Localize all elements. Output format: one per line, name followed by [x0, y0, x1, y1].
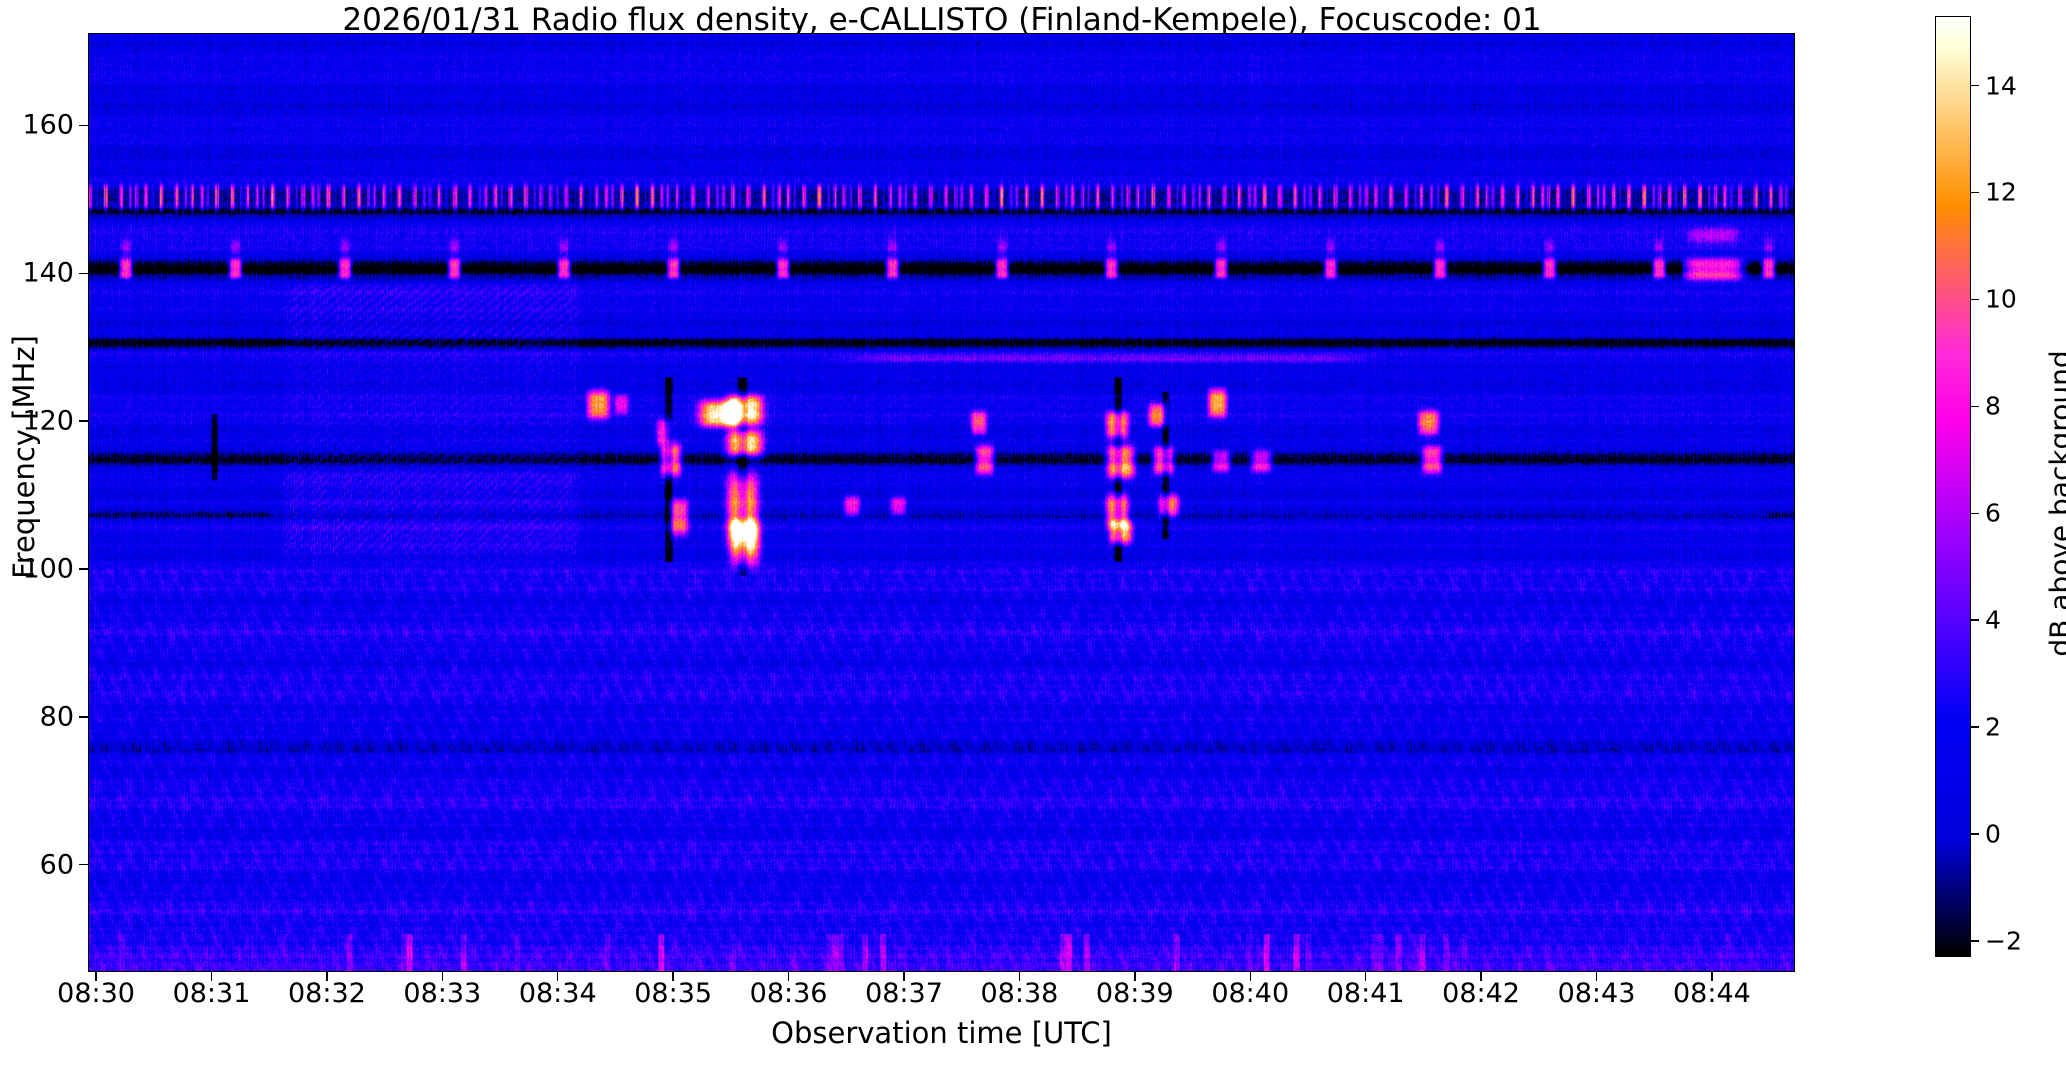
- y-axis-label: Frequency [MHz]: [7, 157, 41, 757]
- y-axis-tick-label: 60: [0, 849, 74, 880]
- y-axis-tick-mark: [79, 864, 88, 865]
- colorbar-tick-mark: [1971, 85, 1979, 86]
- y-axis-tick-mark: [79, 420, 88, 421]
- x-axis-tick-mark: [1596, 972, 1597, 981]
- y-axis-tick-label: 160: [0, 110, 74, 141]
- y-axis-tick-label: 100: [0, 554, 74, 585]
- y-axis-tick-mark: [79, 716, 88, 717]
- colorbar-tick-mark: [1971, 513, 1979, 514]
- x-axis-tick-label: 08:30: [57, 978, 135, 1009]
- colorbar-tick-mark: [1971, 619, 1979, 620]
- colorbar-tick-label: 14: [1985, 71, 2017, 100]
- x-axis-tick-mark: [1480, 972, 1481, 981]
- colorbar-label: dB above background: [2044, 204, 2066, 804]
- colorbar-tick-label: −2: [1985, 926, 2022, 955]
- colorbar-tick-label: 8: [1985, 392, 2001, 421]
- colorbar-tick-mark: [1971, 833, 1979, 834]
- x-axis-tick-label: 08:43: [1558, 978, 1636, 1009]
- y-axis-tick-label: 120: [0, 406, 74, 437]
- x-axis-tick-mark: [557, 972, 558, 981]
- x-axis-tick-label: 08:38: [980, 978, 1058, 1009]
- y-axis-tick-label: 80: [0, 701, 74, 732]
- x-axis-tick-mark: [326, 972, 327, 981]
- x-axis-tick-mark: [1134, 972, 1135, 981]
- y-axis-tick-mark: [79, 273, 88, 274]
- x-axis-tick-label: 08:37: [865, 978, 943, 1009]
- x-axis-tick-mark: [903, 972, 904, 981]
- x-axis-tick-mark: [788, 972, 789, 981]
- spectrogram-image: [89, 34, 1794, 971]
- x-axis-tick-label: 08:35: [634, 978, 712, 1009]
- x-axis-tick-label: 08:42: [1442, 978, 1520, 1009]
- x-axis-tick-mark: [1365, 972, 1366, 981]
- x-axis-tick-mark: [442, 972, 443, 981]
- x-axis-tick-mark: [672, 972, 673, 981]
- colorbar-tick-label: 4: [1985, 606, 2001, 635]
- x-axis-tick-mark: [211, 972, 212, 981]
- colorbar: [1935, 16, 1971, 957]
- colorbar-tick-label: 12: [1985, 178, 2017, 207]
- x-axis-tick-mark: [1019, 972, 1020, 981]
- colorbar-gradient: [1936, 17, 1970, 956]
- x-axis-tick-label: 08:41: [1327, 978, 1405, 1009]
- x-axis-label: Observation time [UTC]: [88, 1016, 1795, 1050]
- x-axis-tick-label: 08:44: [1673, 978, 1751, 1009]
- colorbar-tick-mark: [1971, 406, 1979, 407]
- x-axis-tick-label: 08:39: [1096, 978, 1174, 1009]
- colorbar-tick-mark: [1971, 192, 1979, 193]
- x-axis-tick-label: 08:33: [403, 978, 481, 1009]
- x-axis-tick-label: 08:40: [1211, 978, 1289, 1009]
- spectrogram-plot-area: [88, 33, 1795, 972]
- colorbar-tick-mark: [1971, 940, 1979, 941]
- colorbar-tick-label: 0: [1985, 820, 2001, 849]
- colorbar-tick-mark: [1971, 299, 1979, 300]
- colorbar-tick-label: 6: [1985, 499, 2001, 528]
- x-axis-tick-label: 08:36: [750, 978, 828, 1009]
- x-axis-tick-label: 08:32: [288, 978, 366, 1009]
- y-axis-tick-mark: [79, 568, 88, 569]
- colorbar-tick-mark: [1971, 726, 1979, 727]
- x-axis-tick-label: 08:34: [519, 978, 597, 1009]
- x-axis-tick-mark: [1711, 972, 1712, 981]
- y-axis-tick-label: 140: [0, 258, 74, 289]
- x-axis-tick-mark: [1250, 972, 1251, 981]
- colorbar-tick-label: 10: [1985, 285, 2017, 314]
- y-axis-tick-mark: [79, 125, 88, 126]
- colorbar-tick-label: 2: [1985, 713, 2001, 742]
- x-axis-tick-mark: [95, 972, 96, 981]
- x-axis-tick-label: 08:31: [173, 978, 251, 1009]
- spectrogram-figure: 2026/01/31 Radio flux density, e-CALLIST…: [0, 0, 2066, 1067]
